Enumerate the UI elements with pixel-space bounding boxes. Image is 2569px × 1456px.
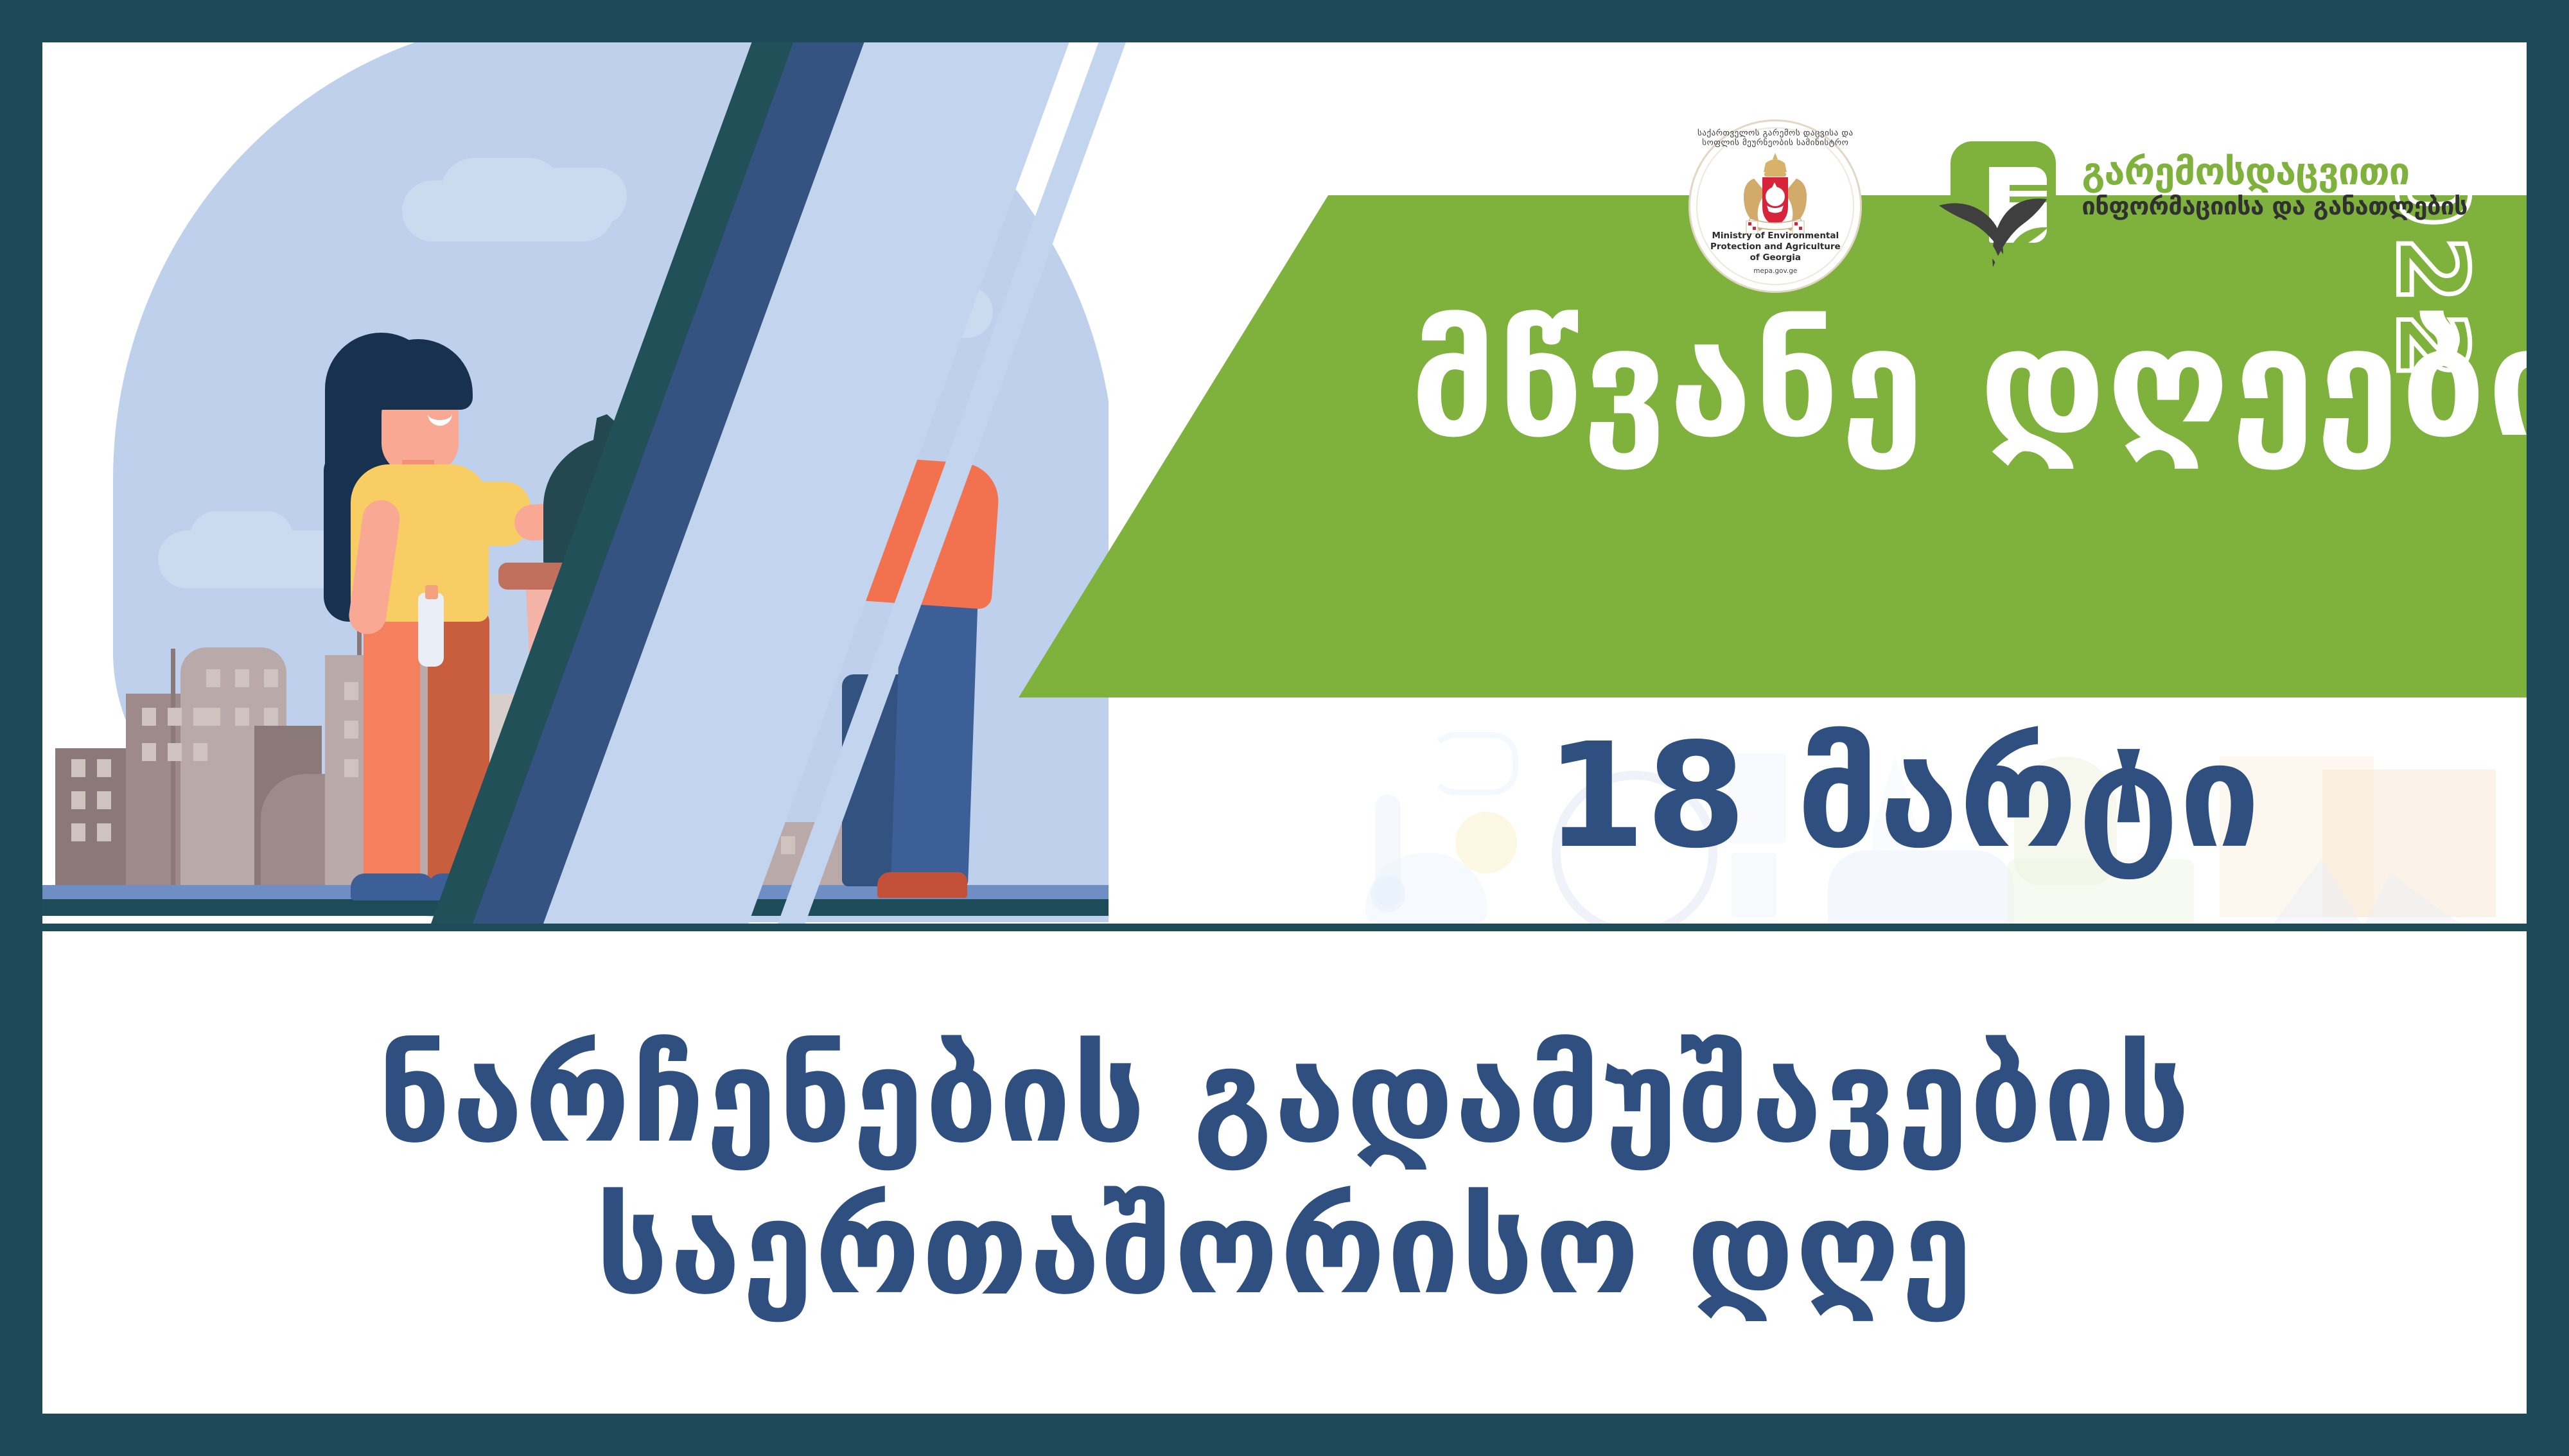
- bottom-section: ნარჩენების გადამუშავების საერთაშორისო დღ…: [42, 931, 2527, 1414]
- top-section: მწვანე დღეები 2022 საქართველოს გარემოს დ…: [42, 42, 2527, 924]
- eic-logo-line3: ცენტრი: [2082, 222, 2468, 259]
- seal-english-text: Ministry of Environmental Protection and…: [1688, 231, 1862, 263]
- thermometer-bulb-icon: [1371, 876, 1405, 912]
- woman-leg-left: [364, 609, 420, 885]
- cloud-icon: [190, 511, 293, 563]
- man-sleeve: [781, 455, 877, 545]
- cloud-icon: [530, 168, 627, 225]
- recycle-symbol-icon: [556, 692, 662, 805]
- recycling-bin-rim: [498, 563, 718, 590]
- recycling-illustration: [42, 42, 1109, 924]
- antenna: [171, 649, 175, 886]
- cloud-icon: [832, 267, 935, 319]
- seal-en-line2: Protection and Agriculture: [1688, 241, 1862, 252]
- headline-line-2: საერთაშორისო დღე: [595, 1177, 1974, 1320]
- headline-line-1: ნარჩენების გადამუშავების: [378, 1025, 2191, 1169]
- bottle-cap: [425, 585, 438, 599]
- seal-url: mepa.gov.ge: [1688, 267, 1862, 275]
- woman-shoe-left: [351, 873, 434, 900]
- seal-en-line1: Ministry of Environmental: [1688, 231, 1862, 241]
- eic-logo-text: გარემოსდაცვითი ინფორმაციისა და განათლები…: [2082, 153, 2468, 259]
- woman-hand: [592, 504, 631, 543]
- georgia-coat-of-arms-icon: [1727, 150, 1823, 240]
- event-date: 18 მარტი: [1545, 724, 2260, 869]
- poster-root: მწვანე დღეები 2022 საქართველოს გარემოს დ…: [0, 0, 2569, 1456]
- eic-logo-line2: ინფორმაციისა და განათლების: [2082, 194, 2468, 218]
- date-band: 18 მარტი: [1359, 710, 2527, 924]
- plastic-bottle-icon: [418, 593, 444, 667]
- man-hand: [694, 532, 739, 574]
- section-divider: [42, 924, 2527, 931]
- eic-center-logo: გარემოსდაცვითი ინფორმაციისა და განათლები…: [1939, 137, 2468, 276]
- ministry-seal-logo: საქართველოს გარემოს დაცვისა და სოფლის მე…: [1688, 119, 1862, 293]
- seal-en-line3: of Georgia: [1688, 252, 1862, 263]
- sun-icon: [1455, 812, 1517, 873]
- poster-card: მწვანე დღეები 2022 საქართველოს გარემოს დ…: [42, 42, 2527, 1414]
- logo-row: საქართველოს გარემოს დაცვისა და სოფლის მე…: [1688, 119, 2468, 293]
- seal-georgian-text: საქართველოს გარემოს დაცვისა და სოფლის მე…: [1688, 128, 1862, 148]
- eic-logo-line1: გარემოსდაცვითი: [2082, 153, 2468, 190]
- banner-title: მწვანე დღეები: [1410, 308, 2412, 459]
- man-shoe: [877, 872, 967, 898]
- ground-shadow: [42, 899, 1109, 916]
- building: [55, 748, 132, 886]
- wind-icon: [1430, 732, 1518, 795]
- eic-logo-mark-icon: [1939, 137, 2067, 276]
- woman-shoe-right: [428, 873, 511, 900]
